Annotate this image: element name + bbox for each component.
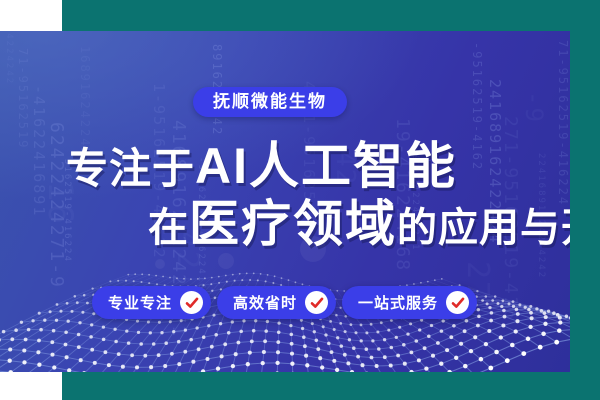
matrix-digit-column: -95162519-4162 xyxy=(470,42,484,171)
check-circle-icon xyxy=(305,291,328,314)
frame-teal-top xyxy=(62,0,600,31)
feature-pill[interactable]: 专业专注 xyxy=(92,286,211,319)
frame-teal-right xyxy=(570,0,600,400)
headline-line1-prefix: 专注于 xyxy=(66,145,195,192)
feature-pill-row: 专业专注高效省时一站式服务 xyxy=(92,286,477,319)
check-circle-icon xyxy=(180,291,203,314)
feature-pill-label: 一站式服务 xyxy=(358,292,438,313)
check-circle-icon xyxy=(446,291,469,314)
frame-teal-bottom xyxy=(62,372,600,400)
headline-line1-emphasis: AI人工智能 xyxy=(195,138,457,194)
feature-pill[interactable]: 一站式服务 xyxy=(342,286,477,319)
headline-line2-suffix: 的应用与开发 xyxy=(397,206,570,250)
headline-line2-emphasis: 医疗领域 xyxy=(189,196,397,252)
headline-line-2: 在医疗领域的应用与开发 xyxy=(148,199,570,249)
corner-white-top-left xyxy=(0,0,62,31)
corner-white-bottom-left xyxy=(0,372,62,400)
feature-pill-label: 高效省时 xyxy=(233,292,297,313)
brand-name-pill: 抚顺微能生物 xyxy=(193,87,347,117)
matrix-digit-accent: -9 xyxy=(520,91,548,124)
headline-line-1: 专注于AI人工智能 xyxy=(66,141,457,191)
headline-line2-prefix: 在 xyxy=(148,206,189,250)
matrix-digit-column: 71-95162519-416224 xyxy=(556,40,570,206)
matrix-digit-column: 71-95162519 xyxy=(16,48,30,149)
feature-pill-label: 专业专注 xyxy=(108,292,172,313)
banner-image: 162422424271-95162519-416224168916242242… xyxy=(0,0,600,400)
banner-canvas: 162422424271-95162519-416224168916242242… xyxy=(0,31,570,372)
feature-pill[interactable]: 高效省时 xyxy=(217,286,336,319)
matrix-digit-column: 1624224242 xyxy=(4,31,14,85)
